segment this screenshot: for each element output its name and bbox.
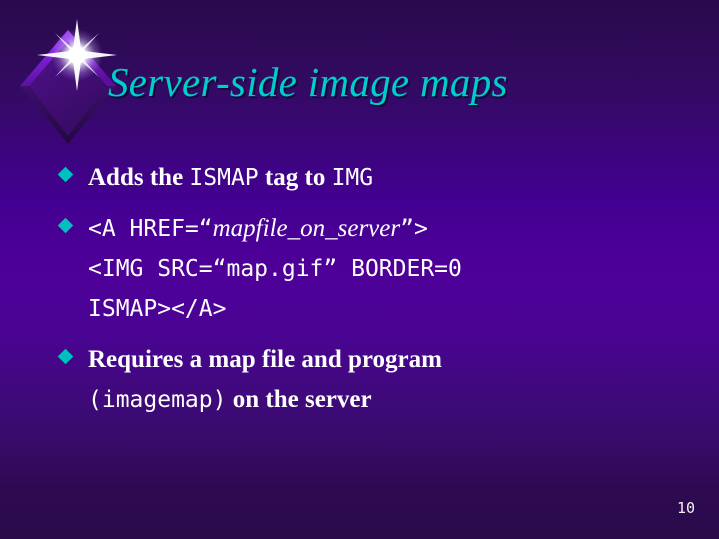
bullet-block: Adds the ISMAP tag to IMG [57,158,687,198]
bullet-block: Requires a map file and program(imagemap… [57,340,687,420]
bullet-line: (imagemap) on the server [88,380,687,420]
text-run-code: (imagemap) [88,387,226,413]
bullet-line: <IMG SRC=“map.gif” BORDER=0 [88,249,687,289]
text-run-ital: mapfile_on_server [213,215,400,242]
text-run-prose: Adds the [88,164,189,191]
sparkle-star [37,19,117,91]
diamond-bullet-icon [58,167,74,183]
bullet-line: Requires a map file and program [88,340,687,380]
bullet-block: <A HREF=“mapfile_on_server”><IMG SRC=“ma… [57,209,687,329]
text-run-prose: on the server [226,386,371,413]
text-run-code: <A HREF=“ [88,216,213,242]
slide-canvas: Server-side image maps Adds the ISMAP ta… [0,0,719,539]
diamond-body [20,30,116,144]
text-run-code: IMG [332,165,374,191]
slide-body: Adds the ISMAP tag to IMG<A HREF=“mapfil… [57,158,687,431]
text-run-code: ”> [400,216,428,242]
diamond-bullet-icon [58,349,74,365]
slide-title: Server-side image maps [108,61,668,104]
text-run-code: ISMAP [189,165,258,191]
diamond-bevel-top [20,30,116,86]
page-number: 10 [677,499,695,517]
text-run-prose: Requires a map file and program [88,346,442,373]
bullet-line: ISMAP></A> [88,289,687,329]
bullet-line: <A HREF=“mapfile_on_server”> [88,209,687,249]
diamond-bevel-bottom [20,86,116,144]
text-run-code: <IMG SRC=“map.gif” BORDER=0 [88,256,462,282]
text-run-prose: tag to [259,164,332,191]
diamond-bullet-icon [58,218,74,234]
text-run-code: ISMAP></A> [88,296,226,322]
bullet-line: Adds the ISMAP tag to IMG [88,158,687,198]
